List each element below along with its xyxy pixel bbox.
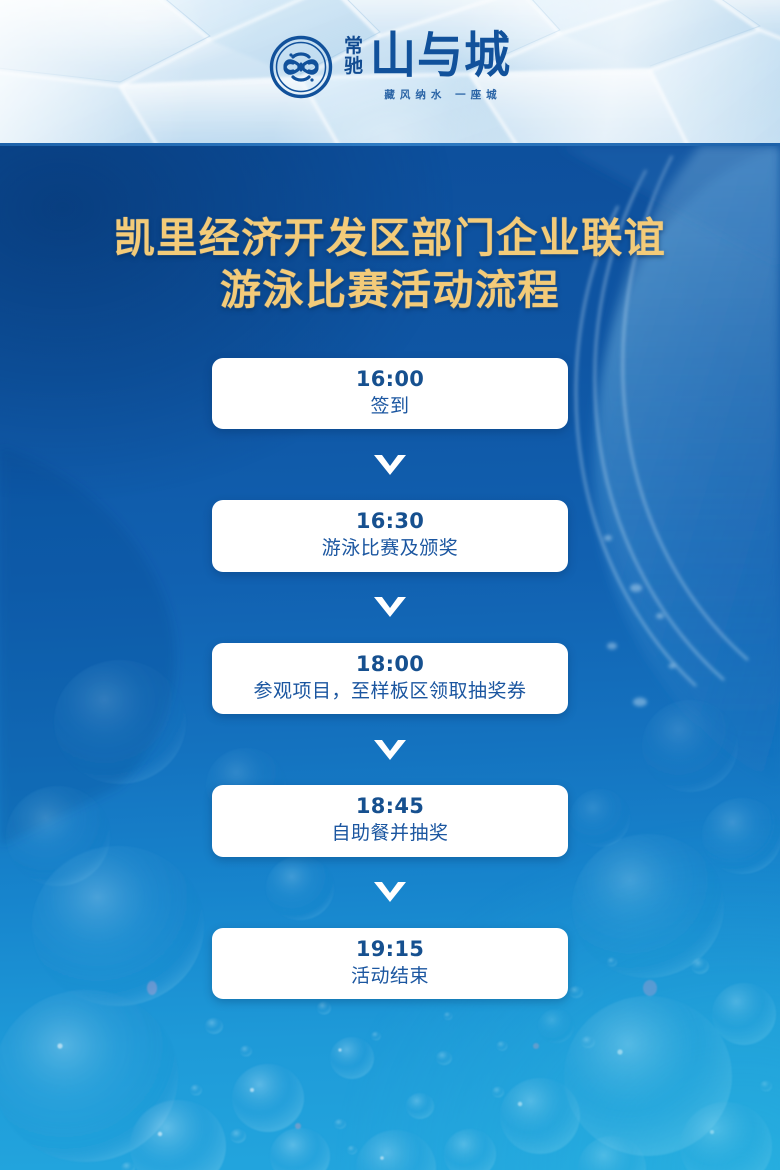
page-title: 凯里经济开发区部门企业联谊 游泳比赛活动流程 <box>0 212 780 317</box>
step-time: 16:30 <box>356 509 424 534</box>
logo-char-1: 常 <box>344 37 363 56</box>
connector-4 <box>212 857 568 928</box>
step-time: 18:45 <box>356 794 424 819</box>
schedule-step-3[interactable]: 18:00 参观项目，至样板区领取抽奖券 <box>212 643 568 714</box>
connector-1 <box>212 429 568 500</box>
schedule-timeline: 16:00 签到 16:30 游泳比赛及颁奖 18:00 参观项目，至样板区领取 <box>212 358 568 999</box>
schedule-step-5[interactable]: 19:15 活动结束 <box>212 928 568 999</box>
chevron-down-icon <box>372 595 408 619</box>
logo-brand-chars: 常 驰 <box>344 32 363 76</box>
chevron-down-icon <box>372 453 408 477</box>
header-band: 常 驰 山与城 藏风纳水 一座城 <box>0 0 780 146</box>
schedule-step-1[interactable]: 16:00 签到 <box>212 358 568 429</box>
changchi-emblem-icon <box>269 35 333 99</box>
step-description: 签到 <box>370 394 409 419</box>
chevron-down-icon <box>372 880 408 904</box>
title-line-1: 凯里经济开发区部门企业联谊 <box>0 212 780 264</box>
step-time: 19:15 <box>356 937 424 962</box>
schedule-step-2[interactable]: 16:30 游泳比赛及颁奖 <box>212 500 568 571</box>
schedule-step-4[interactable]: 18:45 自助餐并抽奖 <box>212 785 568 856</box>
step-description: 游泳比赛及颁奖 <box>322 536 459 561</box>
step-description: 自助餐并抽奖 <box>331 821 448 846</box>
chevron-down-icon <box>372 738 408 762</box>
step-description: 参观项目，至样板区领取抽奖券 <box>253 679 526 704</box>
logo-char-2: 驰 <box>344 57 363 76</box>
connector-3 <box>212 714 568 785</box>
step-description: 活动结束 <box>351 964 429 989</box>
logo-wordmark: 山与城 <box>370 31 511 80</box>
brand-logo: 常 驰 山与城 藏风纳水 一座城 <box>0 32 780 102</box>
logo-tagline: 藏风纳水 一座城 <box>379 87 501 102</box>
step-time: 18:00 <box>356 652 424 677</box>
step-time: 16:00 <box>356 367 424 392</box>
title-line-2: 游泳比赛活动流程 <box>0 264 780 316</box>
connector-2 <box>212 572 568 643</box>
poster-root: 常 驰 山与城 藏风纳水 一座城 <box>0 0 780 1170</box>
